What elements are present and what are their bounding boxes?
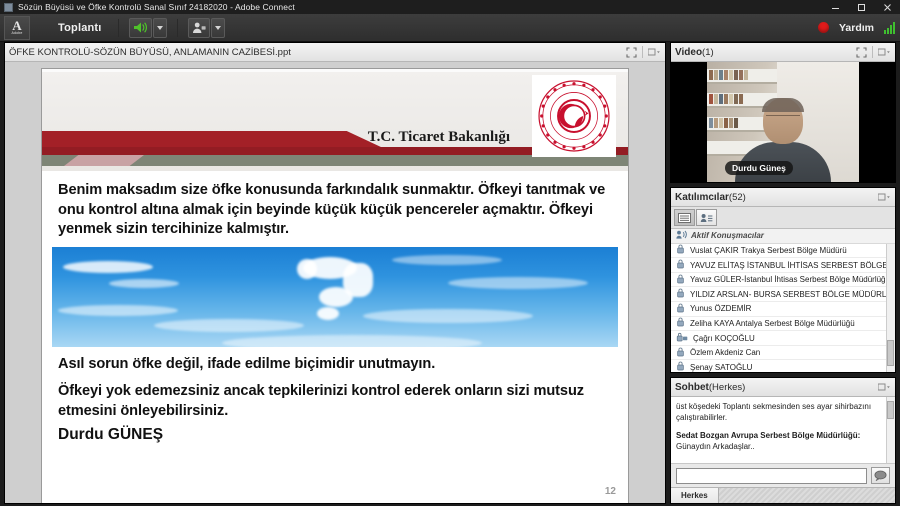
- participant-name: Çağrı KOÇOĞLU: [693, 334, 755, 343]
- chevron-down-icon: [157, 26, 163, 30]
- status-view-icon[interactable]: [696, 209, 717, 226]
- share-pod-title: ÖFKE KONTROLÜ-SÖZÜN BÜYÜSÜ, ANLAMANIN CA…: [9, 47, 291, 58]
- share-pod: ÖFKE KONTROLÜ-SÖZÜN BÜYÜSÜ, ANLAMANIN CA…: [4, 42, 666, 504]
- participant-name: Zeliha KAYA Antalya Serbest Bölge Müdürl…: [690, 319, 855, 328]
- chevron-down-icon-2: [215, 26, 221, 30]
- participant-name: Yavuz GÜLER-İstanbul İhtisas Serbest Böl…: [690, 275, 890, 284]
- participants-pod-controls: [877, 190, 891, 204]
- chat-pod-controls: [877, 380, 891, 394]
- participant-name: YAVUZ ELİTAŞ İSTANBUL İHTİSAS SERBEST BÖ…: [690, 261, 895, 270]
- window-title: Sözün Büyüsü ve Öfke Kontrolü Sanal Sını…: [18, 2, 295, 12]
- list-item[interactable]: Vuslat ÇAKIR Trakya Serbest Bölge Müdürü: [671, 244, 895, 259]
- fullscreen-icon[interactable]: [624, 45, 638, 59]
- chat-message: üst köşedeki Toplantı sekmesinden ses ay…: [676, 401, 890, 423]
- cloud-question-mark: [295, 253, 415, 325]
- slide-bevel: [42, 69, 628, 72]
- list-item[interactable]: Şenay SATOĞLU: [671, 360, 895, 372]
- share-pod-header: ÖFKE KONTROLÜ-SÖZÜN BÜYÜSÜ, ANLAMANIN CA…: [5, 43, 665, 62]
- adobe-connect-window: Sözün Büyüsü ve Öfke Kontrolü Sanal Sını…: [0, 0, 900, 506]
- close-button[interactable]: [874, 0, 900, 14]
- webcam-person-icon[interactable]: [188, 18, 210, 38]
- list-item[interactable]: Yavuz GÜLER-İstanbul İhtisas Serbest Böl…: [671, 273, 895, 288]
- participants-count: (52): [729, 192, 746, 203]
- list-view-icon[interactable]: [674, 209, 695, 226]
- slide-page-number: 12: [605, 486, 616, 497]
- video-pod-header: Video (1): [671, 43, 895, 62]
- participant-icon: [676, 303, 685, 315]
- speaker-dropdown-button[interactable]: [153, 18, 167, 38]
- sky-question-mark-clouds-image: [52, 247, 618, 347]
- window-titlebar: Sözün Büyüsü ve Öfke Kontrolü Sanal Sını…: [0, 0, 900, 14]
- camera-dropdown-button[interactable]: [211, 18, 225, 38]
- adobe-a-glyph: A: [12, 20, 21, 31]
- chat-input-row: [671, 463, 895, 487]
- active-speakers-section[interactable]: Aktif Konuşmacılar: [671, 229, 895, 244]
- fullscreen-icon[interactable]: [854, 45, 868, 59]
- slide-text-top: Benim maksadım size öfke konusunda farkı…: [42, 171, 628, 240]
- share-pod-body: T.C. Ticaret Bakanlığı: [5, 62, 665, 503]
- video-pod-controls: [854, 45, 891, 59]
- video-feed: Durdu Güneş: [707, 62, 859, 182]
- list-item[interactable]: YILDIZ ARSLAN- BURSA SERBEST BÖLGE MÜDÜR…: [671, 287, 895, 302]
- chat-bubble-icon[interactable]: [871, 467, 890, 484]
- chat-message-sender: Sedat Bozgan Avrupa Serbest Bölge Müdürl…: [676, 431, 860, 440]
- chat-tab-bar: Herkes: [671, 487, 895, 503]
- adobe-logo-icon: A Adobe: [4, 16, 30, 40]
- pod-options-icon[interactable]: [877, 45, 891, 59]
- participant-name: Vuslat ÇAKIR Trakya Serbest Bölge Müdürü: [690, 246, 847, 255]
- chat-pod: Sohbet (Herkes) üst köşedeki Toplantı: [670, 377, 896, 504]
- speaker-icon[interactable]: [129, 18, 152, 38]
- slide-author: Durdu GÜNEŞ: [58, 426, 612, 444]
- participant-webcam-icon: [676, 332, 688, 344]
- chat-message-text: üst köşedeki Toplantı sekmesinden ses ay…: [676, 402, 871, 422]
- participants-list[interactable]: Vuslat ÇAKIR Trakya Serbest Bölge Müdürü…: [671, 244, 895, 372]
- adobe-wordmark: Adobe: [11, 31, 22, 35]
- participants-toolbar: [671, 207, 895, 229]
- app-toolbar: A Adobe Toplantı: [0, 14, 900, 42]
- toolbar-separator-2: [177, 19, 178, 37]
- right-pod-column: Video (1): [670, 42, 896, 504]
- chat-pod-title: Sohbet: [675, 382, 709, 393]
- slide-image-wrap: [42, 240, 628, 347]
- list-item[interactable]: Yunus ÖZDEMİR: [671, 302, 895, 317]
- scrollbar-thumb[interactable]: [887, 340, 894, 366]
- chat-message-text: Günaydın Arkadaşlar..: [676, 442, 755, 451]
- presentation-slide[interactable]: T.C. Ticaret Bakanlığı: [41, 68, 629, 503]
- chat-pod-header: Sohbet (Herkes): [671, 378, 895, 397]
- person-hair: [762, 98, 804, 112]
- participants-pod-title: Katılımcılar: [675, 192, 729, 203]
- slide-header-band: T.C. Ticaret Bakanlığı: [42, 69, 628, 171]
- record-dot-icon[interactable]: [818, 22, 829, 33]
- person-glasses: [766, 115, 800, 123]
- pod-options-icon[interactable]: [877, 190, 891, 204]
- participant-name: Yunus ÖZDEMİR: [690, 304, 751, 313]
- list-item[interactable]: Zeliha KAYA Antalya Serbest Bölge Müdürl…: [671, 317, 895, 332]
- slide-paragraph-top: Benim maksadım size öfke konusunda farkı…: [58, 181, 612, 240]
- video-pod-title: Video: [675, 47, 702, 58]
- chat-scrollbar[interactable]: [886, 397, 895, 463]
- help-button[interactable]: Yardım: [839, 22, 874, 34]
- menu-toplanti[interactable]: Toplantı: [52, 19, 108, 37]
- participant-icon: [676, 259, 685, 271]
- video-pod: Video (1): [670, 42, 896, 183]
- pod-options-icon[interactable]: [647, 45, 661, 59]
- share-pod-controls: [624, 45, 661, 59]
- ministry-seal-icon: [532, 75, 616, 157]
- video-pod-count: (1): [702, 47, 714, 58]
- participant-name: Şenay SATOĞLU: [690, 363, 752, 372]
- participants-pod: Katılımcılar (52): [670, 187, 896, 373]
- chat-pod-scope: (Herkes): [709, 382, 745, 393]
- participant-icon: [676, 288, 685, 300]
- adobe-connect-icon: [4, 3, 13, 12]
- participant-icon: [676, 317, 685, 329]
- slide-text-bottom: Asıl sorun öfke değil, ifade edilme biçi…: [42, 347, 628, 445]
- list-item[interactable]: Özlem Akdeniz Can: [671, 346, 895, 361]
- participant-name: Özlem Akdeniz Can: [690, 348, 760, 357]
- participant-icon: [676, 347, 685, 359]
- chat-input[interactable]: [676, 468, 867, 484]
- participant-icon: [676, 274, 685, 286]
- signal-strength-icon[interactable]: [884, 21, 895, 34]
- participants-pod-header: Katılımcılar (52): [671, 188, 895, 207]
- meeting-body: ÖFKE KONTROLÜ-SÖZÜN BÜYÜSÜ, ANLAMANIN CA…: [0, 42, 900, 506]
- active-speakers-label: Aktif Konuşmacılar: [691, 231, 764, 240]
- slide-paragraph-bottom: Öfkeyi yok edemezsiniz ancak tepkilerini…: [58, 382, 612, 421]
- audio-control-group: [129, 18, 167, 38]
- participant-icon: [676, 361, 685, 372]
- participant-icon: [676, 244, 685, 256]
- participant-name: YILDIZ ARSLAN- BURSA SERBEST BÖLGE MÜDÜR…: [690, 290, 895, 299]
- pod-control-divider: [642, 46, 643, 58]
- minimize-button[interactable]: [822, 0, 848, 14]
- ministry-seal-svg: [536, 78, 612, 154]
- slide-ministry-title: T.C. Ticaret Bakanlığı: [368, 129, 510, 146]
- chat-message: Sedat Bozgan Avrupa Serbest Bölge Müdürl…: [676, 430, 890, 452]
- list-item[interactable]: YAVUZ ELİTAŞ İSTANBUL İHTİSAS SERBEST BÖ…: [671, 258, 895, 273]
- active-speaker-icon: [676, 230, 687, 241]
- toolbar-right-group: Yardım: [818, 21, 900, 34]
- chat-tab-herkes[interactable]: Herkes: [671, 488, 719, 503]
- toolbar-separator: [118, 19, 119, 37]
- list-item[interactable]: Çağrı KOÇOĞLU: [671, 331, 895, 346]
- window-controls: [822, 0, 900, 14]
- scrollbar-thumb[interactable]: [887, 401, 894, 419]
- maximize-button[interactable]: [848, 0, 874, 14]
- slide-paragraph-mid: Asıl sorun öfke değil, ifade edilme biçi…: [58, 355, 612, 375]
- pod-options-icon[interactable]: [877, 380, 891, 394]
- video-stage[interactable]: Durdu Güneş: [671, 62, 895, 182]
- participants-scrollbar[interactable]: [886, 244, 895, 372]
- pod-control-divider: [872, 46, 873, 58]
- chat-message-list[interactable]: üst köşedeki Toplantı sekmesinden ses ay…: [671, 397, 895, 463]
- video-speaker-name: Durdu Güneş: [725, 161, 793, 175]
- camera-control-group: [188, 18, 225, 38]
